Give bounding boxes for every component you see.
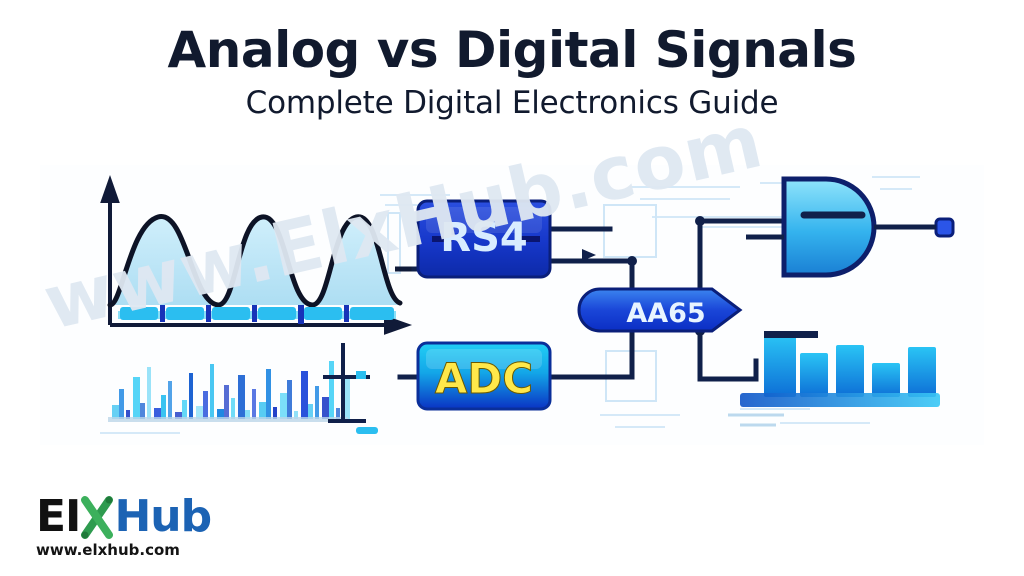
aa65-block: AA65 — [579, 289, 740, 331]
adc-block-label: ADC — [435, 354, 533, 403]
digital-bar-chart-left — [112, 361, 350, 419]
right-chart-guides — [728, 415, 784, 425]
adc-marker-chip — [356, 371, 366, 379]
left-bars-baseline — [108, 417, 348, 422]
rs4-block: RS4 — [418, 201, 550, 277]
right-bars-baseline — [740, 393, 940, 407]
adc-marker-bar — [356, 427, 378, 434]
page-subtitle: Complete Digital Electronics Guide — [0, 77, 1024, 121]
logo-wordmark: EI Hub — [36, 495, 336, 539]
header: Analog vs Digital Signals Complete Digit… — [0, 0, 1024, 121]
adc-block: ADC — [418, 343, 550, 409]
aa65-block-label: AA65 — [626, 298, 705, 329]
gate-output-pad — [936, 219, 953, 236]
brand-logo[interactable]: EI Hub www.elxhub.com — [36, 495, 336, 565]
right-bars-cap — [764, 331, 818, 338]
rs4-block-label: RS4 — [440, 215, 527, 261]
electronics-diagram: RS4 AA65 ADC — [40, 165, 984, 445]
sampling-strip — [118, 305, 396, 324]
logo-part-hub: Hub — [114, 495, 211, 539]
logo-x-icon — [80, 495, 114, 539]
logo-url: www.elxhub.com — [36, 541, 336, 559]
page-title: Analog vs Digital Signals — [0, 0, 1024, 77]
logo-part-ei: EI — [36, 495, 80, 539]
digital-bar-chart-right — [764, 335, 936, 397]
poster-canvas: Analog vs Digital Signals Complete Digit… — [0, 0, 1024, 576]
analog-wave-fill — [110, 217, 400, 305]
